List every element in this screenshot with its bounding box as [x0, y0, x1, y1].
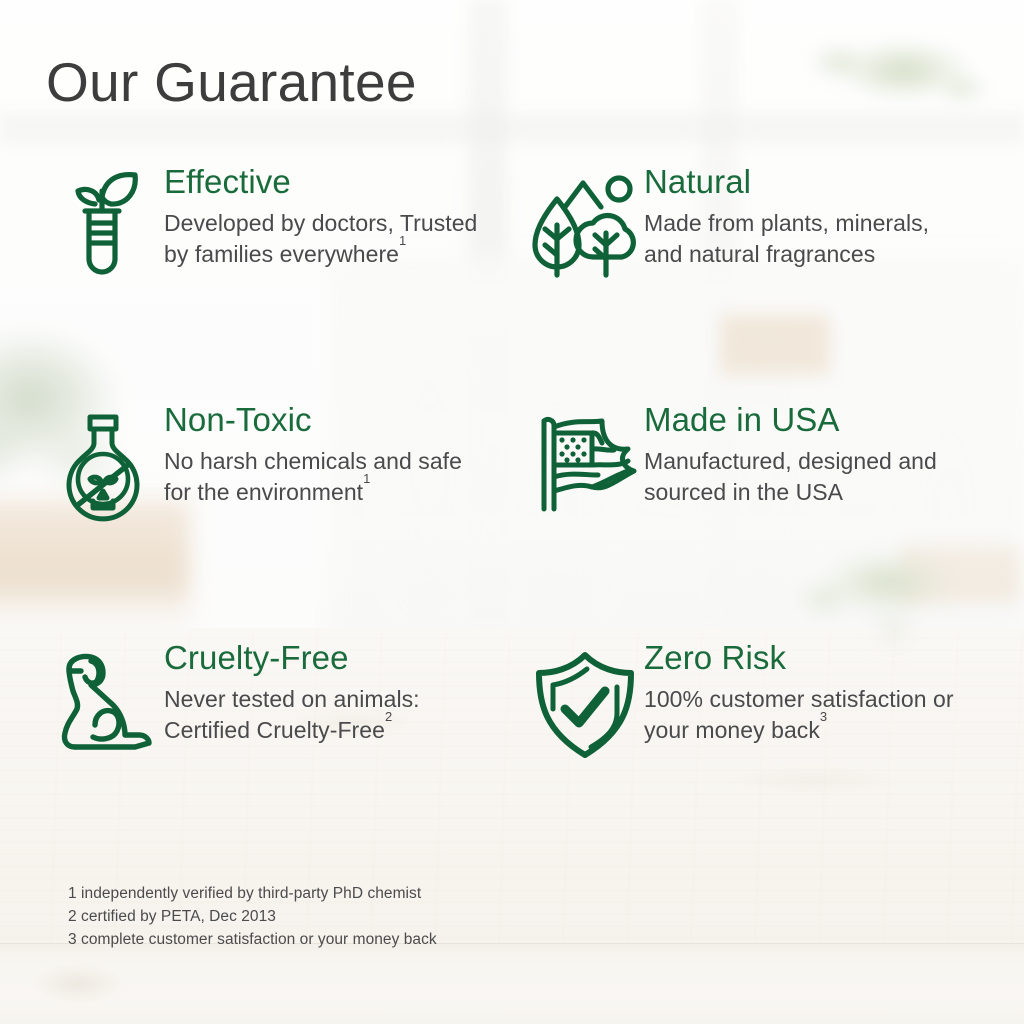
footnote-1: 1 independently verified by third-party …	[68, 883, 437, 906]
feature-heading: Made in USA	[644, 401, 996, 440]
feature-description: No harsh chemicals and safe for the envi…	[164, 446, 494, 509]
poison-bottle-crossed-out-icon	[46, 401, 164, 527]
trees-mountain-sun-icon	[526, 163, 644, 283]
footnote-ref: 3	[820, 709, 827, 724]
footnote-2: 2 certified by PETA, Dec 2013	[68, 906, 437, 929]
feature-description: 100% customer satisfaction or your money…	[644, 684, 974, 747]
shield-check-icon	[526, 639, 644, 763]
feature-heading: Zero Risk	[644, 639, 996, 678]
feature-heading: Non-Toxic	[164, 401, 516, 440]
feature-description: Made from plants, minerals, and natural …	[644, 208, 974, 271]
feature-effective: Effective Developed by doctors, Trusted …	[46, 163, 516, 401]
test-tube-leaf-icon	[46, 163, 164, 283]
feature-cruelty-free: Cruelty-Free Never tested on animals: Ce…	[46, 639, 516, 877]
guarantee-infographic: Our Guarantee	[0, 0, 1024, 1024]
feature-description: Developed by doctors, Trusted by familie…	[164, 208, 494, 271]
feature-heading: Natural	[644, 163, 996, 202]
feature-description: Manufactured, designed and sourced in th…	[644, 446, 974, 509]
footnote-ref: 2	[385, 709, 392, 724]
feature-made-in-usa: Made in USA Manufactured, designed and s…	[526, 401, 996, 639]
footnote-3: 3 complete customer satisfaction or your…	[68, 929, 437, 952]
footnote-ref: 1	[399, 233, 406, 248]
feature-zero-risk: Zero Risk 100% customer satisfaction or …	[526, 639, 996, 877]
feature-description: Never tested on animals: Certified Cruel…	[164, 684, 494, 747]
feature-heading: Effective	[164, 163, 516, 202]
feature-heading: Cruelty-Free	[164, 639, 516, 678]
footnote-ref: 1	[363, 471, 370, 486]
feature-grid: Effective Developed by doctors, Trusted …	[46, 163, 996, 877]
sitting-dog-icon	[46, 639, 164, 759]
usa-flag-icon	[526, 401, 644, 519]
footnotes-block: 1 independently verified by third-party …	[68, 883, 437, 951]
page-title: Our Guarantee	[46, 52, 417, 113]
feature-non-toxic: Non-Toxic No harsh chemicals and safe fo…	[46, 401, 516, 639]
feature-natural: Natural Made from plants, minerals, and …	[526, 163, 996, 401]
